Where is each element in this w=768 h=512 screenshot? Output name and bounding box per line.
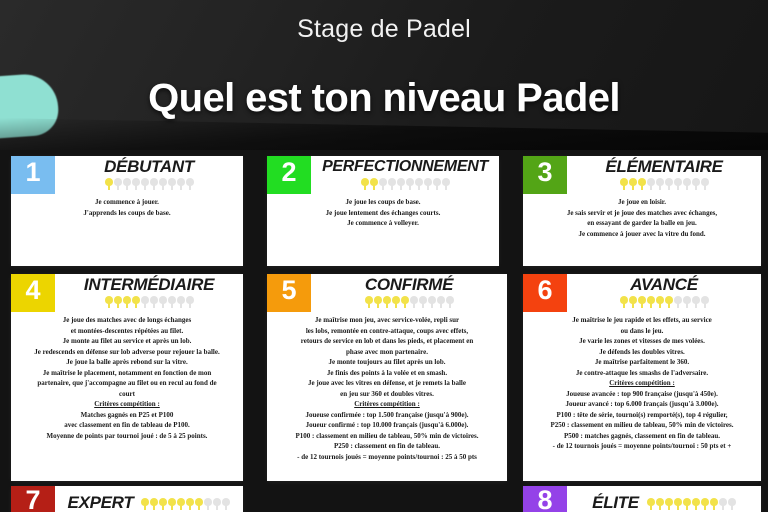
criteria-heading: Critères compétition : [272, 399, 502, 410]
level-description-line: Je joue la balle après rebond sur la vit… [16, 357, 238, 368]
padel-pin-icon [114, 178, 122, 190]
padel-pin-icon [159, 178, 167, 190]
padel-pin-icon [401, 296, 409, 308]
criteria-line: Joueuse confirmée : top 1.500 française … [272, 410, 502, 421]
padel-pin-icon [365, 296, 373, 308]
level-rating-meter [647, 498, 736, 511]
padel-pin-icon [410, 296, 418, 308]
criteria-line: P100 : tête de série, tournoi(s) remport… [528, 410, 756, 421]
level-card-7: 7EXPERT [11, 486, 243, 512]
level-number-badge: 6 [523, 274, 567, 312]
padel-pin-icon [701, 498, 709, 510]
level-description-line: Je finis des points à la volée et en sma… [272, 368, 502, 379]
padel-pin-icon [150, 178, 158, 190]
criteria-line: - de 12 tournois joués = moyenne points/… [528, 441, 756, 452]
padel-pin-icon [168, 296, 176, 308]
level-description: Je maîtrise le jeu rapide et les effets,… [523, 312, 761, 457]
padel-pin-icon [123, 296, 131, 308]
level-card-heading-group: EXPERT [55, 493, 243, 512]
level-card-8: 8ÉLITE [523, 486, 761, 512]
criteria-line: Matches gagnés en P25 et P100 [16, 410, 238, 421]
level-description-line: Je monte toujours au filet après un lob. [272, 357, 502, 368]
criteria-line: P500 : matches gagnés, classement en fin… [528, 431, 756, 442]
padel-pin-icon [105, 296, 113, 308]
criteria-heading: Critères compétition : [16, 399, 238, 410]
level-description: Je joue en loisir.Je sais servir et je j… [523, 194, 761, 244]
level-card-5: 5CONFIRMÉJe maîtrise mon jeu, avec servi… [267, 274, 507, 481]
level-description-line: Je joue en loisir. [528, 197, 756, 208]
padel-pin-icon [379, 178, 387, 190]
level-description-line: partenaire, que j'accompagne au filet ou… [16, 378, 238, 389]
criteria-line: P250 : classement en fin de tableau. [272, 441, 502, 452]
level-description: Je maîtrise mon jeu, avec service-volée,… [267, 312, 507, 467]
padel-pin-icon [665, 178, 673, 190]
padel-pin-icon [665, 296, 673, 308]
level-title: ÉLÉMENTAIRE [567, 157, 761, 177]
padel-pin-icon [638, 178, 646, 190]
padel-pin-icon [683, 498, 691, 510]
padel-pin-icon [123, 178, 131, 190]
level-card-header: 8ÉLITE [523, 486, 761, 512]
level-number-badge: 7 [11, 486, 55, 512]
padel-pin-icon [424, 178, 432, 190]
padel-pin-icon [683, 296, 691, 308]
padel-pin-icon [397, 178, 405, 190]
padel-pin-icon [383, 296, 391, 308]
padel-pin-icon [204, 498, 212, 510]
level-title: PERFECTIONNEMENT [311, 157, 499, 177]
level-number-badge: 2 [267, 156, 311, 194]
level-description-line: Je maîtrise mon jeu, avec service-volée,… [272, 315, 502, 326]
padel-pin-icon [186, 296, 194, 308]
padel-pin-icon [370, 178, 378, 190]
padel-pin-icon [674, 296, 682, 308]
padel-pin-icon [141, 498, 149, 510]
padel-pin-icon [437, 296, 445, 308]
padel-pin-icon [177, 296, 185, 308]
padel-pin-icon [132, 296, 140, 308]
criteria-line: P250 : classement en milieu de tableau, … [528, 420, 756, 431]
level-description-line: Je commence à jouer avec la vitre du fon… [528, 229, 756, 240]
page-title: Quel est ton niveau Padel [0, 76, 768, 121]
level-description-line: Je redescends en défense sur lob adverse… [16, 347, 238, 358]
padel-pin-icon [150, 296, 158, 308]
level-description-line: J'apprends les coups de base. [16, 208, 238, 219]
level-description-line: les lobs, remontée en contre-attaque, co… [272, 326, 502, 337]
padel-pin-icon [150, 498, 158, 510]
padel-pin-icon [446, 296, 454, 308]
padel-pin-icon [406, 178, 414, 190]
level-title: AVANCÉ [567, 275, 761, 295]
padel-pin-icon [186, 178, 194, 190]
level-description-line: Je joue des matches avec de longs échang… [16, 315, 238, 326]
padel-pin-icon [701, 296, 709, 308]
padel-pin-icon [620, 178, 628, 190]
level-description-line: Je maîtrise parfaitement le 360. [528, 357, 756, 368]
level-number-badge: 3 [523, 156, 567, 194]
padel-pin-icon [159, 296, 167, 308]
criteria-line: Moyenne de points par tournoi joué : de … [16, 431, 238, 442]
level-description: Je commence à jouer.J'apprends les coups… [11, 194, 243, 223]
padel-pin-icon [728, 498, 736, 510]
padel-pin-icon [692, 296, 700, 308]
padel-pin-icon [656, 296, 664, 308]
padel-pin-icon [647, 498, 655, 510]
level-rating-meter [55, 296, 243, 309]
level-card-header: 1DÉBUTANT [11, 156, 243, 194]
level-number-badge: 1 [11, 156, 55, 194]
level-description-line: phase avec mon partenaire. [272, 347, 502, 358]
level-card-header: 2PERFECTIONNEMENT [267, 156, 499, 194]
criteria-line: Joueur confirmé : top 10.000 français (j… [272, 420, 502, 431]
level-title: INTERMÉDIAIRE [55, 275, 243, 295]
level-description-line: Je commence à jouer. [16, 197, 238, 208]
level-description-line: Je commence à volleyer. [272, 218, 494, 229]
level-description-line: en jeu sur 360 et doubles vitres. [272, 389, 502, 400]
levels-grid: 1DÉBUTANTJe commence à jouer.J'apprends … [0, 152, 768, 512]
padel-pin-icon [213, 498, 221, 510]
padel-pin-icon [419, 296, 427, 308]
page-header: Stage de Padel Quel est ton niveau Padel [0, 0, 768, 150]
padel-pin-icon [141, 296, 149, 308]
padel-pin-icon [442, 178, 450, 190]
level-card-6: 6AVANCÉJe maîtrise le jeu rapide et les … [523, 274, 761, 481]
padel-pin-icon [168, 498, 176, 510]
criteria-line: Joueuse avancée : top 900 française (jus… [528, 389, 756, 400]
level-description-line: ou dans le jeu. [528, 326, 756, 337]
padel-pin-icon [656, 498, 664, 510]
level-title: EXPERT [68, 493, 134, 512]
padel-pin-icon [141, 178, 149, 190]
padel-pin-icon [177, 178, 185, 190]
padel-pin-icon [168, 178, 176, 190]
level-rating-meter [567, 178, 761, 191]
padel-pin-icon [692, 498, 700, 510]
level-rating-meter [311, 296, 507, 309]
padel-pin-icon [428, 296, 436, 308]
padel-pin-icon [388, 178, 396, 190]
padel-pin-icon [629, 296, 637, 308]
level-card-header: 5CONFIRMÉ [267, 274, 507, 312]
level-card-4: 4INTERMÉDIAIREJe joue des matches avec d… [11, 274, 243, 481]
padel-pin-icon [415, 178, 423, 190]
padel-pin-icon [674, 178, 682, 190]
padel-pin-icon [674, 498, 682, 510]
padel-pin-icon [647, 178, 655, 190]
padel-pin-icon [374, 296, 382, 308]
level-card-3: 3ÉLÉMENTAIREJe joue en loisir.Je sais se… [523, 156, 761, 266]
level-description-line: et montées-descentes répétées au filet. [16, 326, 238, 337]
level-description-line: Je joue avec les vitres en défense, et j… [272, 378, 502, 389]
level-description-line: court [16, 389, 238, 400]
padel-pin-icon [710, 498, 718, 510]
level-card-heading-group: ÉLITE [567, 493, 761, 512]
padel-pin-icon [222, 498, 230, 510]
level-title: ÉLITE [592, 493, 639, 512]
padel-pin-icon [186, 498, 194, 510]
level-description-line: Je monte au filet au service et après un… [16, 336, 238, 347]
padel-pin-icon [114, 296, 122, 308]
level-description: Je joue les coups de base.Je joue lentem… [267, 194, 499, 234]
level-description-line: en essayant de garder la balle en jeu. [528, 218, 756, 229]
padel-pin-icon [177, 498, 185, 510]
level-description-line: Je maîtrise le placement, notamment en f… [16, 368, 238, 379]
level-rating-meter [141, 498, 230, 511]
padel-pin-icon [392, 296, 400, 308]
eyebrow-text: Stage de Padel [0, 15, 768, 44]
level-number-badge: 8 [523, 486, 567, 512]
level-card-header: 6AVANCÉ [523, 274, 761, 312]
padel-pin-icon [195, 498, 203, 510]
padel-pin-icon [159, 498, 167, 510]
padel-pin-icon [656, 178, 664, 190]
level-description-line: Je maîtrise le jeu rapide et les effets,… [528, 315, 756, 326]
level-description-line: Je joue lentement des échanges courts. [272, 208, 494, 219]
padel-pin-icon [132, 178, 140, 190]
padel-pin-icon [647, 296, 655, 308]
padel-pin-icon [692, 178, 700, 190]
criteria-line: avec classement en fin de tableau de P10… [16, 420, 238, 431]
criteria-line: P100 : classement en milieu de tableau, … [272, 431, 502, 442]
level-description-line: Je sais servir et je joue des matches av… [528, 208, 756, 219]
padel-pin-icon [361, 178, 369, 190]
level-card-2: 2PERFECTIONNEMENTJe joue les coups de ba… [267, 156, 499, 266]
padel-pin-icon [433, 178, 441, 190]
level-rating-meter [567, 296, 761, 309]
level-card-header: 3ÉLÉMENTAIRE [523, 156, 761, 194]
level-card-heading-group: INTERMÉDIAIRE [55, 274, 243, 312]
level-description-line: Je varie les zones et vitesses de mes vo… [528, 336, 756, 347]
level-card-heading-group: AVANCÉ [567, 274, 761, 312]
level-card-heading-group: PERFECTIONNEMENT [311, 156, 499, 194]
padel-pin-icon [683, 178, 691, 190]
level-number-badge: 5 [267, 274, 311, 312]
level-title: DÉBUTANT [55, 157, 243, 177]
criteria-line: Joueur avancé : top 6.000 français (jusq… [528, 399, 756, 410]
padel-pin-icon [719, 498, 727, 510]
level-description-line: Je défends les doubles vitres. [528, 347, 756, 358]
level-card-header: 4INTERMÉDIAIRE [11, 274, 243, 312]
level-description: Je joue des matches avec de longs échang… [11, 312, 243, 446]
padel-pin-icon [638, 296, 646, 308]
padel-pin-icon [620, 296, 628, 308]
padel-pin-icon [105, 178, 113, 190]
level-description-line: Je contre-attaque les smashs de l'advers… [528, 368, 756, 379]
level-title: CONFIRMÉ [311, 275, 507, 295]
criteria-heading: Critères compétition : [528, 378, 756, 389]
level-number-badge: 4 [11, 274, 55, 312]
level-card-heading-group: CONFIRMÉ [311, 274, 507, 312]
level-rating-meter [311, 178, 499, 191]
padel-pin-icon [701, 178, 709, 190]
padel-pin-icon [629, 178, 637, 190]
level-card-header: 7EXPERT [11, 486, 243, 512]
level-rating-meter [55, 178, 243, 191]
level-card-heading-group: ÉLÉMENTAIRE [567, 156, 761, 194]
padel-pin-icon [665, 498, 673, 510]
level-description-line: Je joue les coups de base. [272, 197, 494, 208]
criteria-line: - de 12 tournois joués = moyenne points/… [272, 452, 502, 463]
level-card-heading-group: DÉBUTANT [55, 156, 243, 194]
level-card-1: 1DÉBUTANTJe commence à jouer.J'apprends … [11, 156, 243, 266]
level-description-line: retours de service en lob et dans les pi… [272, 336, 502, 347]
